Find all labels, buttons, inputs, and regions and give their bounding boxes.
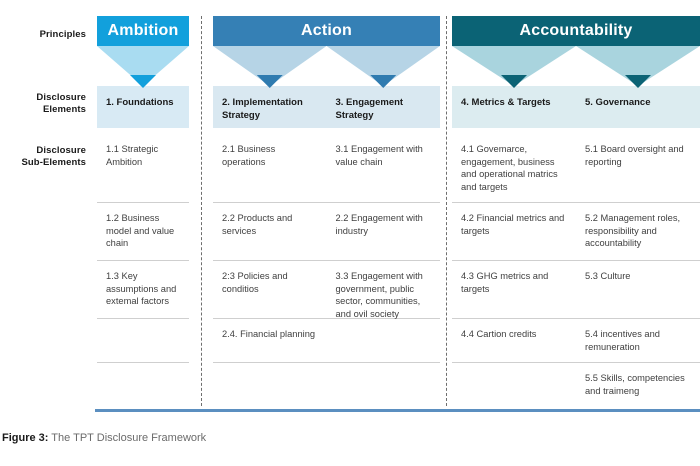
sub-element-cell xyxy=(452,362,576,406)
principle-group-action: Action 2. Implementation Strategy 3. Eng… xyxy=(213,16,440,128)
sub-elements-action: 2.1 Business operations 2.2 Products and… xyxy=(213,134,440,406)
sub-element-cell: 1.3 Key assumptions and extemal factors xyxy=(97,260,189,318)
principle-bar-ambition: Ambition xyxy=(97,16,189,46)
sub-column-governance: 5.1 Board oversight and reporting 5.2 Ma… xyxy=(576,134,700,406)
disclosure-element-governance-title: 5. Governance xyxy=(585,97,650,110)
funnel-accountability-2 xyxy=(576,46,700,86)
sub-element-cell: 2.2 Engagement with industry xyxy=(327,202,441,260)
funnel-action-2 xyxy=(327,46,441,86)
sub-element-cell: 4.4 Cartion credits xyxy=(452,318,576,362)
row-label-principles: Principles xyxy=(0,29,86,41)
figure-caption: Figure 3: The TPT Disclosure Framework xyxy=(2,432,206,444)
disclosure-element-metrics-targets: 4. Metrics & Targets xyxy=(452,86,576,128)
row-label-principles-text: Principles xyxy=(40,29,86,40)
sub-element-cell: 4.3 GHG metrics and targets xyxy=(452,260,576,318)
sub-element-cell: 5.3 Culture xyxy=(576,260,700,318)
disclosure-element-implementation-strategy: 2. Implementation Strategy xyxy=(213,86,327,128)
figure-caption-label: Figure 3: xyxy=(2,432,48,444)
row-label-disclosure-elements-line1: Disclosure xyxy=(36,92,86,103)
sub-element-cell xyxy=(327,362,441,406)
disclosure-element-engagement-strategy-title: 3. Engagement Strategy xyxy=(336,97,432,122)
sub-element-cell xyxy=(327,318,441,362)
principle-group-ambition: Ambition 1. Foundations xyxy=(97,16,189,128)
group-divider-left xyxy=(201,16,202,406)
sub-element-cell: 4.1 Govemarce, engagement, business and … xyxy=(452,134,576,202)
sub-element-cell: 5.4 incentives and remuneration xyxy=(576,318,700,362)
principle-label-action: Action xyxy=(301,22,352,40)
sub-element-cell: 2.4. Financial planning xyxy=(213,318,327,362)
principle-label-ambition: Ambition xyxy=(108,22,179,40)
sub-element-cell xyxy=(97,318,189,362)
disclosure-element-engagement-strategy: 3. Engagement Strategy xyxy=(327,86,441,128)
sub-elements-accountability: 4.1 Govemarce, engagement, business and … xyxy=(452,134,700,406)
sub-element-cell: 1.2 Business model and value chain xyxy=(97,202,189,260)
sub-element-cell: 5.2 Management roles, responsibility and… xyxy=(576,202,700,260)
sub-column-metrics-targets: 4.1 Govemarce, engagement, business and … xyxy=(452,134,576,406)
funnel-strip-accountability xyxy=(452,46,700,86)
element-row-accountability: 4. Metrics & Targets 5. Governance xyxy=(452,86,700,128)
sub-element-cell xyxy=(97,362,189,406)
sub-element-cell: 2:3 Policies and conditios xyxy=(213,260,327,318)
sub-element-cell: 1.1 Strategic Ambition xyxy=(97,134,189,202)
row-label-disclosure-sub-line2: Sub-Elements xyxy=(21,157,86,168)
sub-element-cell: 3.1 Engagement with value chain xyxy=(327,134,441,202)
funnel-action-1 xyxy=(213,46,327,86)
figure-bottom-rule xyxy=(95,409,700,412)
disclosure-element-foundations-title: 1. Foundations xyxy=(106,97,174,110)
sub-element-cell: 2.1 Business operations xyxy=(213,134,327,202)
funnel-strip-action xyxy=(213,46,440,86)
sub-element-cell: 3.3 Engagement with government, public s… xyxy=(327,260,441,318)
element-row-action: 2. Implementation Strategy 3. Engagement… xyxy=(213,86,440,128)
sub-element-cell: 5.5 Skills, competencies and traimeng xyxy=(576,362,700,406)
sub-column-engagement-strategy: 3.1 Engagement with value chain 2.2 Enga… xyxy=(327,134,441,406)
row-label-disclosure-elements: Disclosure Elements xyxy=(0,92,86,116)
funnel-strip-ambition xyxy=(97,46,189,86)
sub-element-cell: 4.2 Financial metrics and targets xyxy=(452,202,576,260)
principle-label-accountability: Accountability xyxy=(519,22,632,40)
sub-elements-ambition: 1.1 Strategic Ambition 1.2 Business mode… xyxy=(97,134,189,406)
principle-group-accountability: Accountability 4. Metrics & Targets 5. G… xyxy=(452,16,700,128)
sub-element-cell xyxy=(213,362,327,406)
sub-element-cell: 2.2 Products and services xyxy=(213,202,327,260)
disclosure-element-foundations: 1. Foundations xyxy=(97,86,189,128)
sub-element-cell: 5.1 Board oversight and reporting xyxy=(576,134,700,202)
row-label-disclosure-sub-elements: Disclosure Sub-Elements xyxy=(0,145,86,169)
disclosure-element-metrics-targets-title: 4. Metrics & Targets xyxy=(461,97,551,110)
sub-column-implementation-strategy: 2.1 Business operations 2.2 Products and… xyxy=(213,134,327,406)
principle-bar-accountability: Accountability xyxy=(452,16,700,46)
figure-caption-text: The TPT Disclosure Framework xyxy=(48,432,206,444)
sub-column-foundations: 1.1 Strategic Ambition 1.2 Business mode… xyxy=(97,134,189,406)
funnel-accountability-1 xyxy=(452,46,576,86)
row-label-disclosure-sub-line1: Disclosure xyxy=(36,145,86,156)
disclosure-element-governance: 5. Governance xyxy=(576,86,700,128)
element-row-ambition: 1. Foundations xyxy=(97,86,189,128)
disclosure-element-implementation-strategy-title: 2. Implementation Strategy xyxy=(222,97,318,122)
principle-bar-action: Action xyxy=(213,16,440,46)
funnel-ambition-1 xyxy=(97,46,189,86)
row-label-disclosure-elements-line2: Elements xyxy=(43,104,86,115)
group-divider-right xyxy=(446,16,447,406)
